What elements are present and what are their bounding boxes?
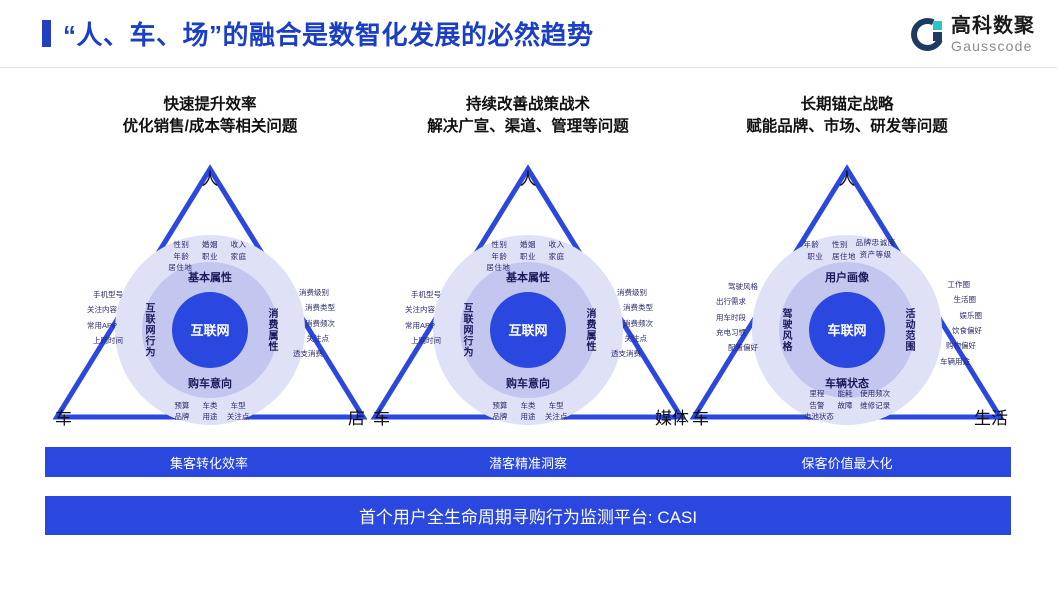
satellite-item: 年龄 xyxy=(168,251,194,263)
rings-3-left-label: 驾驶风格 xyxy=(778,308,793,352)
triangle-3-bottom-left-label: 车 xyxy=(692,404,709,429)
satellite-item: 预算 xyxy=(169,400,195,412)
rings-1-satellites-left: 手机型号 关注内容 常用APP 上网时间 xyxy=(81,287,123,349)
logo-square-navy-icon xyxy=(933,32,942,41)
satellite-item: 透支消费 xyxy=(611,346,659,361)
rings-3-top-label: 用户画像 xyxy=(752,269,942,285)
column-2-heading-line2: 解决广宣、渠道、管理等问题 xyxy=(363,116,693,138)
rings-2-bottom-label: 购车意向 xyxy=(433,375,623,391)
column-1-triangle-diagram: 人 车 店 互联网 基本属性 购车意向 互联网行为 消费属性 性别 xyxy=(45,151,375,431)
satellite-item: 关注点 xyxy=(611,331,659,346)
satellite-row: 年龄 职业 家庭 xyxy=(168,251,251,263)
outcome-bar-2: 潜客精准洞察 xyxy=(364,447,692,477)
satellite-item: 消费级别 xyxy=(611,285,659,300)
column-3-heading-line1: 长期锚定战略 xyxy=(682,94,1012,116)
satellite-item: 预算 xyxy=(487,400,513,412)
title-accent-bar xyxy=(42,20,51,47)
rings-1-satellites-bottom: 预算 车类 车型 品牌 用途 关注点 xyxy=(169,400,251,423)
satellite-item: 使用频次 xyxy=(860,388,890,400)
satellite-item: 品牌 xyxy=(169,411,195,423)
satellite-item: 年龄 xyxy=(798,239,824,251)
rings-1-left-label: 互联网行为 xyxy=(141,302,156,357)
satellite-item: 上网时间 xyxy=(81,333,123,348)
rings-2-core: 互联网 xyxy=(490,292,566,368)
column-2-heading: 持续改善战策战术 解决广宣、渠道、管理等问题 xyxy=(363,94,693,139)
column-1-heading-line1: 快速提升效率 xyxy=(45,94,375,116)
satellite-item: 工作圈 xyxy=(940,277,988,292)
outcome-bar-3: 保客价值最大化 xyxy=(683,447,1011,477)
outcome-bar-1: 集客转化效率 xyxy=(45,447,373,477)
satellite-row: 里程 能耗 使用频次 xyxy=(804,388,890,400)
column-3-triangle-diagram: 人 车 生活 车联网 用户画像 车辆状态 驾驶风格 活动范围 年龄 xyxy=(682,151,1012,431)
header-divider xyxy=(0,67,1057,68)
satellite-item: 性别 xyxy=(168,239,194,251)
satellite-item: 关注点 xyxy=(543,411,569,423)
satellite-item: 家庭 xyxy=(544,251,570,263)
satellite-item: 居住地 xyxy=(486,262,512,274)
satellite-item: 消费频次 xyxy=(293,316,341,331)
satellite-item: 消费频次 xyxy=(611,316,659,331)
satellite-item: 车类 xyxy=(197,400,223,412)
rings-3-satellites-left: 驾驶风格 出行需求 用车时段 充电习惯 配置偏好 xyxy=(710,279,758,356)
satellite-item: 车辆用途 xyxy=(940,354,988,369)
satellite-item: 驾驶风格 xyxy=(710,279,758,294)
column-2-heading-line1: 持续改善战策战术 xyxy=(363,94,693,116)
rings-3-core: 车联网 xyxy=(809,292,885,368)
satellite-item: 用途 xyxy=(515,411,541,423)
satellite-item: 手机型号 xyxy=(81,287,123,302)
rings-2-left-label: 互联网行为 xyxy=(459,302,474,357)
satellite-item: 性别 xyxy=(486,239,512,251)
satellite-item: 家庭 xyxy=(226,251,252,263)
logo-name-cn: 高科数聚 xyxy=(951,16,1035,36)
satellite-item: 资产等级 xyxy=(860,251,892,259)
column-1-heading: 快速提升效率 优化销售/成本等相关问题 xyxy=(45,94,375,139)
triangle-3-apex-label: 人 xyxy=(682,165,1012,190)
rings-2-right-label: 消费属性 xyxy=(582,308,597,352)
satellite-row: 居住地 xyxy=(168,262,251,274)
platform-banner: 首个用户全生命周期寻购行为监测平台: CASI xyxy=(45,496,1011,535)
rings-3-satellites-top: 年龄 性别 品牌忠诚度 职业 居住地 资产等级 xyxy=(798,239,895,262)
satellite-item: 能耗 xyxy=(832,388,858,400)
satellite-item: 关注点 xyxy=(293,331,341,346)
satellite-row: 性别 婚姻 收入 xyxy=(168,239,251,251)
satellite-row: 职业 居住地 资产等级 xyxy=(798,251,895,263)
satellite-item: 居住地 xyxy=(168,262,194,274)
satellite-row: 性别 婚姻 收入 xyxy=(486,239,569,251)
satellite-row: 年龄 职业 家庭 xyxy=(486,251,569,263)
rings-2-satellites-top: 性别 婚姻 收入 年龄 职业 家庭 居住地 xyxy=(486,239,569,274)
page-title: “人、车、场”的融合是数智化发展的必然趋势 xyxy=(63,15,594,52)
rings-2-satellites-bottom: 预算 车类 车型 品牌 用途 关注点 xyxy=(487,400,569,423)
satellite-item: 车型 xyxy=(225,400,251,412)
triangle-3-bottom-right-label: 生活 xyxy=(974,404,1008,429)
satellite-item: 消费类型 xyxy=(611,300,659,315)
column-3-heading-line2: 赋能品牌、市场、研发等问题 xyxy=(682,116,1012,138)
satellite-item: 品牌忠诚度 xyxy=(856,239,896,247)
rings-1-right-label: 消费属性 xyxy=(264,308,279,352)
satellite-row: 品牌 用途 关注点 xyxy=(487,411,569,423)
satellite-item: 常用APP xyxy=(81,318,123,333)
satellite-item: 关注内容 xyxy=(399,302,441,317)
satellite-item: 收入 xyxy=(544,239,570,251)
column-1: 快速提升效率 优化销售/成本等相关问题 人 车 店 互联网 基本属性 购车意向 xyxy=(45,94,375,431)
satellite-item: 年龄 xyxy=(486,251,512,263)
logo-wordmark: 高科数聚 Gausscode xyxy=(951,16,1035,53)
satellite-item: 上网时间 xyxy=(399,333,441,348)
satellite-item: 职业 xyxy=(515,251,541,263)
satellite-item: 电池状态 xyxy=(804,411,834,423)
satellite-item: 生活圈 xyxy=(940,292,988,307)
logo-square-teal-icon xyxy=(933,21,942,30)
satellite-item: 车型 xyxy=(543,400,569,412)
satellite-item: 关注内容 xyxy=(81,302,123,317)
satellite-item: 维修记录 xyxy=(860,400,890,412)
satellite-item: 常用APP xyxy=(399,318,441,333)
rings-1-satellites-right: 消费级别 消费类型 消费频次 关注点 透支消费 xyxy=(293,285,341,362)
satellite-item: 职业 xyxy=(802,251,828,263)
brand-logo: 高科数聚 Gausscode xyxy=(911,16,1035,53)
satellite-item: 里程 xyxy=(804,388,830,400)
satellite-row: 居住地 xyxy=(486,262,569,274)
outcome-bars: 集客转化效率 潜客精准洞察 保客价值最大化 xyxy=(0,447,1057,477)
satellite-item: 职业 xyxy=(197,251,223,263)
satellite-item: 收入 xyxy=(226,239,252,251)
rings-3: 车联网 用户画像 车辆状态 驾驶风格 活动范围 年龄 性别 品牌忠诚度 职业 xyxy=(752,235,942,425)
logo-name-en: Gausscode xyxy=(951,39,1035,53)
rings-2-satellites-right: 消费级别 消费类型 消费频次 关注点 透支消费 xyxy=(611,285,659,362)
satellite-item: 配置偏好 xyxy=(710,340,758,355)
rings-1-core: 互联网 xyxy=(172,292,248,368)
satellite-row: 预算 车类 车型 xyxy=(487,400,569,412)
logo-gausscode-icon xyxy=(911,18,944,51)
rings-2: 互联网 基本属性 购车意向 互联网行为 消费属性 性别 婚姻 收入 年龄 xyxy=(433,235,623,425)
rings-3-satellites-bottom: 里程 能耗 使用频次 告警 故障 维修记录 电池状态 xyxy=(804,388,890,423)
column-2-triangle-diagram: 人 车 媒体 互联网 基本属性 购车意向 互联网行为 消费属性 性别 xyxy=(363,151,693,431)
satellite-row: 电池状态 xyxy=(804,411,890,423)
satellite-item: 用车时段 xyxy=(710,310,758,325)
rings-2-satellites-left: 手机型号 关注内容 常用APP 上网时间 xyxy=(399,287,441,349)
triangle-2-apex-label: 人 xyxy=(363,165,693,190)
satellite-item: 购物偏好 xyxy=(940,338,988,353)
rings-1: 互联网 基本属性 购车意向 互联网行为 消费属性 性别 婚姻 收入 年龄 xyxy=(115,235,305,425)
rings-3-right-label: 活动范围 xyxy=(901,308,916,352)
triangle-1-apex-label: 人 xyxy=(45,165,375,190)
rings-2-core-label: 互联网 xyxy=(508,320,547,339)
satellite-item: 性别 xyxy=(827,239,853,251)
satellite-row: 预算 车类 车型 xyxy=(169,400,251,412)
logo-ring-shape xyxy=(906,13,948,55)
satellite-item: 告警 xyxy=(804,400,830,412)
rings-1-core-label: 互联网 xyxy=(190,320,229,339)
slide-root: “人、车、场”的融合是数智化发展的必然趋势 高科数聚 Gausscode 快速提… xyxy=(0,0,1057,589)
satellite-item: 消费类型 xyxy=(293,300,341,315)
triangle-1-bottom-left-label: 车 xyxy=(55,404,72,429)
satellite-item: 车类 xyxy=(515,400,541,412)
satellite-row: 品牌 用途 关注点 xyxy=(169,411,251,423)
satellite-item: 关注点 xyxy=(225,411,251,423)
satellite-item: 居住地 xyxy=(831,251,857,263)
satellite-item: 娱乐圈 xyxy=(940,308,988,323)
rings-1-satellites-top: 性别 婚姻 收入 年龄 职业 家庭 居住地 xyxy=(168,239,251,274)
satellite-item: 品牌 xyxy=(487,411,513,423)
column-3-heading: 长期锚定战略 赋能品牌、市场、研发等问题 xyxy=(682,94,1012,139)
rings-3-satellites-right: 工作圈 生活圈 娱乐圈 饮食偏好 购物偏好 车辆用途 xyxy=(940,277,988,369)
triangle-2-bottom-left-label: 车 xyxy=(373,404,390,429)
satellite-item: 用途 xyxy=(197,411,223,423)
rings-3-core-label: 车联网 xyxy=(827,320,866,339)
satellite-item: 婚姻 xyxy=(197,239,223,251)
satellite-item: 婚姻 xyxy=(515,239,541,251)
satellite-item: 手机型号 xyxy=(399,287,441,302)
slide-header: “人、车、场”的融合是数智化发展的必然趋势 高科数聚 Gausscode xyxy=(0,0,1057,68)
column-1-heading-line2: 优化销售/成本等相关问题 xyxy=(45,116,375,138)
satellite-item: 充电习惯 xyxy=(710,325,758,340)
satellite-item: 消费级别 xyxy=(293,285,341,300)
column-3: 长期锚定战略 赋能品牌、市场、研发等问题 人 车 生活 车联网 用户画像 车辆 xyxy=(682,94,1012,431)
satellite-item: 故障 xyxy=(832,400,858,412)
satellite-row: 告警 故障 维修记录 xyxy=(804,400,890,412)
satellite-item: 出行需求 xyxy=(710,294,758,309)
satellite-item: 透支消费 xyxy=(293,346,341,361)
satellite-item: 饮食偏好 xyxy=(940,323,988,338)
rings-1-bottom-label: 购车意向 xyxy=(115,375,305,391)
column-2: 持续改善战策战术 解决广宣、渠道、管理等问题 人 车 媒体 互联网 基本属性 xyxy=(363,94,693,431)
satellite-row: 年龄 性别 品牌忠诚度 xyxy=(798,239,895,251)
